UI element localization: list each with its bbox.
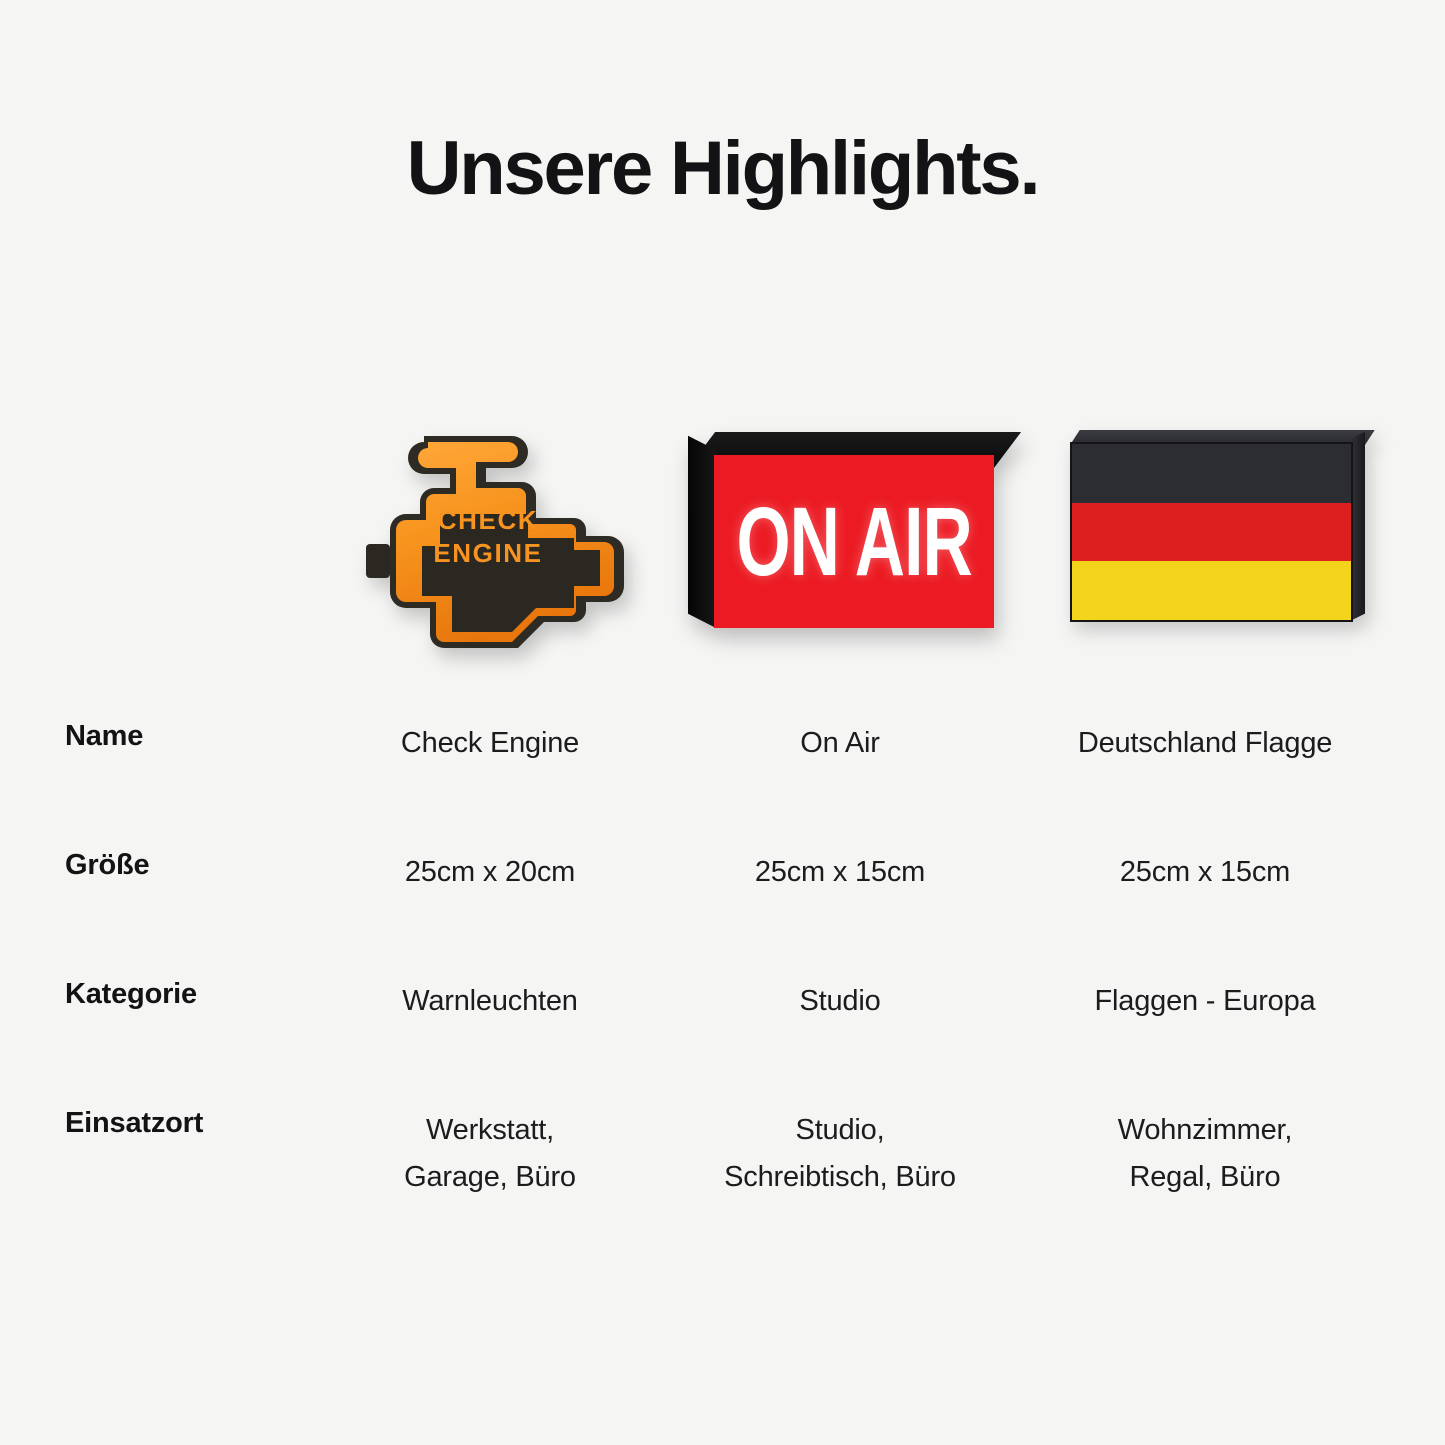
on-air-box-side-face <box>688 436 716 628</box>
table-row-name: Name Check Engine On Air Deutschland Fla… <box>0 690 1445 819</box>
flag-band-gold <box>1072 561 1351 620</box>
cell-einsatzort-deutschland-flagge: Wohnzimmer,Regal, Büro <box>1015 1077 1395 1201</box>
cell-kategorie-check-engine: Warnleuchten <box>315 948 665 1025</box>
cell-groesse-check-engine: 25cm x 20cm <box>315 819 665 896</box>
cell-name-deutschland-flagge: Deutschland Flagge <box>1015 690 1395 767</box>
flag-band-red <box>1072 503 1351 562</box>
german-flag-lightbox-icon <box>1070 430 1365 628</box>
product-image-strip: CHECK ENGINE ON AIR <box>0 400 1445 670</box>
table-row-groesse: Größe 25cm x 20cm 25cm x 15cm 25cm x 15c… <box>0 819 1445 948</box>
flag-band-black <box>1072 444 1351 503</box>
product-image-on-air[interactable]: ON AIR <box>670 400 1010 670</box>
row-label-groesse: Größe <box>0 819 315 882</box>
highlights-page: Unsere Highlights. <box>0 0 1445 1445</box>
flag-box-side-face <box>1352 432 1365 620</box>
on-air-text: ON AIR <box>736 485 971 597</box>
row-label-einsatzort: Einsatzort <box>0 1077 315 1140</box>
page-title: Unsere Highlights. <box>0 131 1445 207</box>
on-air-box-front-face: ON AIR <box>714 455 994 628</box>
cell-name-check-engine: Check Engine <box>315 690 665 767</box>
cell-name-on-air: On Air <box>665 690 1015 767</box>
check-engine-lamp-icon: CHECK ENGINE <box>328 418 648 656</box>
spec-comparison-table: Name Check Engine On Air Deutschland Fla… <box>0 690 1445 1237</box>
flag-box-front-face <box>1070 442 1353 622</box>
cell-kategorie-deutschland-flagge: Flaggen - Europa <box>1015 948 1395 1025</box>
cell-groesse-deutschland-flagge: 25cm x 15cm <box>1015 819 1395 896</box>
row-label-kategorie: Kategorie <box>0 948 315 1011</box>
product-image-deutschland-flagge[interactable] <box>1020 400 1360 670</box>
cell-kategorie-on-air: Studio <box>665 948 1015 1025</box>
table-row-kategorie: Kategorie Warnleuchten Studio Flaggen - … <box>0 948 1445 1077</box>
table-row-einsatzort: Einsatzort Werkstatt,Garage, Büro Studio… <box>0 1077 1445 1237</box>
cell-groesse-on-air: 25cm x 15cm <box>665 819 1015 896</box>
cell-einsatzort-on-air: Studio,Schreibtisch, Büro <box>665 1077 1015 1201</box>
product-image-check-engine[interactable]: CHECK ENGINE <box>320 400 660 670</box>
on-air-lightbox-icon: ON AIR <box>688 432 994 628</box>
row-label-name: Name <box>0 690 315 753</box>
cell-einsatzort-check-engine: Werkstatt,Garage, Büro <box>315 1077 665 1201</box>
